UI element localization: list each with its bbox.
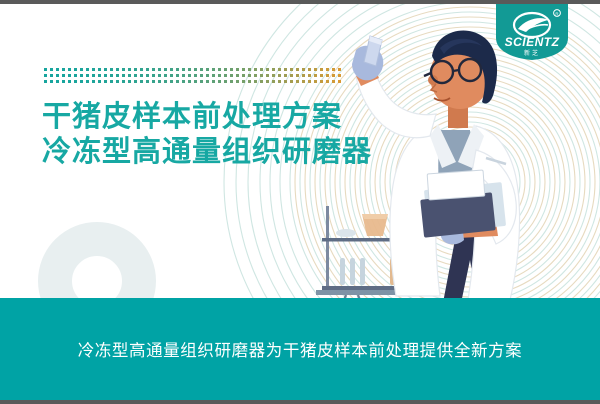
dot (80, 68, 83, 71)
dot (122, 74, 125, 77)
dot (296, 80, 299, 83)
dot (176, 68, 179, 71)
dot (140, 68, 143, 71)
dot (188, 74, 191, 77)
dot (200, 68, 203, 71)
dot (116, 74, 119, 77)
dot (92, 74, 95, 77)
dot (62, 68, 65, 71)
banner-text: 冷冻型高通量组织研磨器为干猪皮样本前处理提供全新方案 (78, 337, 523, 361)
dot (278, 74, 281, 77)
dot-grid-row (44, 74, 341, 77)
dot (278, 68, 281, 71)
dot (272, 68, 275, 71)
dot (110, 74, 113, 77)
dot (194, 80, 197, 83)
dot (296, 68, 299, 71)
dot (218, 74, 221, 77)
dot (134, 74, 137, 77)
scientz-shield-logo[interactable]: R SCIENTZ 新芝 (494, 4, 570, 60)
dot (212, 68, 215, 71)
dot (44, 80, 47, 83)
dot (104, 80, 107, 83)
dot (176, 80, 179, 83)
dot (266, 74, 269, 77)
page-title: 干猪皮样本前处理方案 冷冻型高通量组织研磨器 (42, 100, 372, 171)
dot (200, 74, 203, 77)
dot (62, 80, 65, 83)
dot (260, 74, 263, 77)
dot (254, 80, 257, 83)
dot (134, 80, 137, 83)
dot (236, 74, 239, 77)
dot (182, 74, 185, 77)
dot (146, 68, 149, 71)
dot (74, 74, 77, 77)
dot (74, 68, 77, 71)
dot (116, 68, 119, 71)
dot (158, 68, 161, 71)
dot (224, 68, 227, 71)
dot (284, 80, 287, 83)
dot (290, 74, 293, 77)
dot (44, 68, 47, 71)
headline-line-2: 冷冻型高通量组织研磨器 (42, 135, 372, 170)
dot (284, 68, 287, 71)
dot (224, 74, 227, 77)
dot (116, 80, 119, 83)
dot (188, 68, 191, 71)
dot (146, 80, 149, 83)
dot (242, 74, 245, 77)
dot (218, 80, 221, 83)
dot (56, 74, 59, 77)
dot (260, 80, 263, 83)
dot (128, 68, 131, 71)
dot (158, 80, 161, 83)
dot (152, 68, 155, 71)
dot (122, 68, 125, 71)
gradient-dot-grid (44, 68, 341, 83)
dot (104, 74, 107, 77)
dot (110, 68, 113, 71)
dot (134, 68, 137, 71)
dot (128, 80, 131, 83)
dot (230, 68, 233, 71)
dot (206, 80, 209, 83)
dot (74, 80, 77, 83)
logo-sub-wordmark: 新芝 (524, 49, 540, 57)
dot (98, 80, 101, 83)
dot (248, 80, 251, 83)
logo-wordmark: SCIENTZ (505, 35, 560, 49)
dot (86, 74, 89, 77)
dot (278, 80, 281, 83)
dot (194, 68, 197, 71)
dot (194, 74, 197, 77)
dot (182, 80, 185, 83)
dot (104, 68, 107, 71)
dot (290, 80, 293, 83)
bottom-banner: 冷冻型高通量组织研磨器为干猪皮样本前处理提供全新方案 (0, 298, 600, 400)
dot (248, 74, 251, 77)
dot (266, 80, 269, 83)
dot (92, 80, 95, 83)
dot (152, 74, 155, 77)
dot (68, 80, 71, 83)
dot (164, 68, 167, 71)
dot (236, 80, 239, 83)
dot (170, 74, 173, 77)
dot (284, 74, 287, 77)
dot (296, 74, 299, 77)
poster-canvas: 干猪皮样本前处理方案 冷冻型高通量组织研磨器 (0, 0, 600, 404)
dot-grid-row (44, 68, 341, 71)
dot (248, 68, 251, 71)
dot (50, 68, 53, 71)
dot (164, 80, 167, 83)
dot (170, 68, 173, 71)
dot (86, 68, 89, 71)
dot (164, 74, 167, 77)
dot (98, 74, 101, 77)
dot (260, 68, 263, 71)
dot (170, 80, 173, 83)
bottom-chrome-bar (0, 400, 600, 404)
dot (146, 74, 149, 77)
headline-line-1: 干猪皮样本前处理方案 (42, 100, 372, 135)
dot (80, 74, 83, 77)
dot (176, 74, 179, 77)
dot (152, 80, 155, 83)
dot (110, 80, 113, 83)
dot (188, 80, 191, 83)
dot (212, 74, 215, 77)
dot (242, 80, 245, 83)
trademark-mark: R (555, 12, 558, 17)
dot (254, 74, 257, 77)
dot (266, 68, 269, 71)
dot (218, 68, 221, 71)
dot (68, 68, 71, 71)
dot (140, 74, 143, 77)
dot (230, 74, 233, 77)
dot (62, 74, 65, 77)
dot (182, 68, 185, 71)
dot (230, 80, 233, 83)
dot (122, 80, 125, 83)
dot (158, 74, 161, 77)
dot (254, 68, 257, 71)
dot (80, 80, 83, 83)
dot (236, 68, 239, 71)
dot (50, 74, 53, 77)
dot (56, 68, 59, 71)
dot-grid-row (44, 80, 341, 83)
dot (272, 80, 275, 83)
dot (272, 74, 275, 77)
dot (68, 74, 71, 77)
dot (212, 80, 215, 83)
dot (200, 80, 203, 83)
dot (98, 68, 101, 71)
dot (92, 68, 95, 71)
top-chrome-bar (0, 0, 600, 4)
dot (242, 68, 245, 71)
dot (44, 74, 47, 77)
dot (290, 68, 293, 71)
dot (140, 80, 143, 83)
dot (206, 74, 209, 77)
dot (86, 80, 89, 83)
dot (206, 68, 209, 71)
dot (56, 80, 59, 83)
dot (50, 80, 53, 83)
dot (128, 74, 131, 77)
dot (224, 80, 227, 83)
